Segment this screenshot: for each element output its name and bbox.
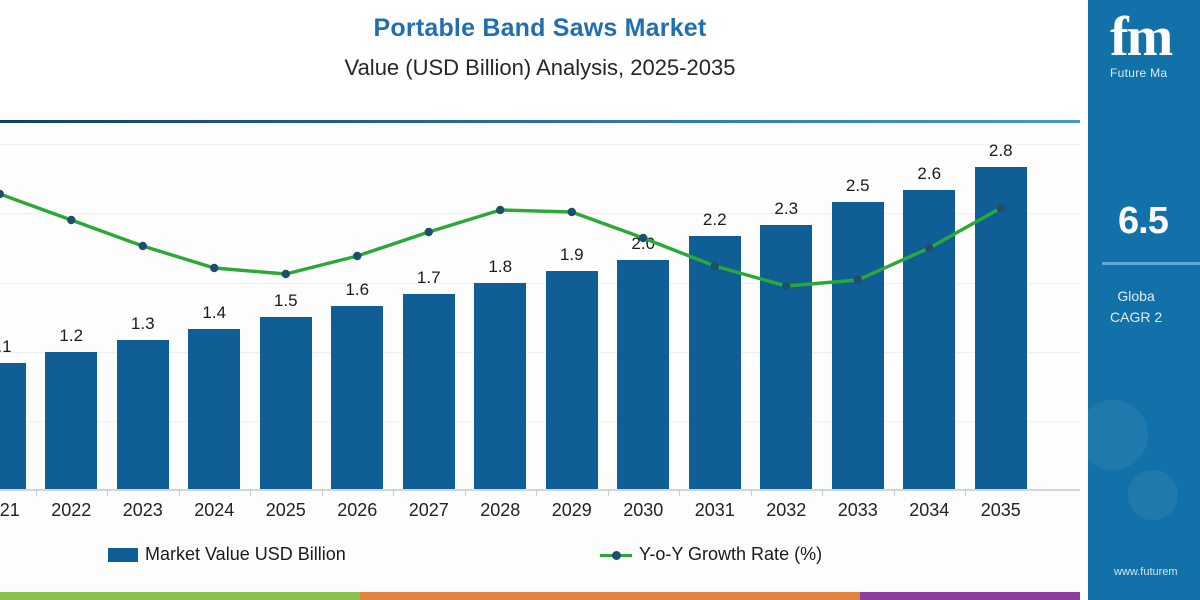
growth-marker-2032[interactable] [782, 282, 790, 290]
strip-segment [360, 592, 860, 600]
growth-marker-2031[interactable] [711, 262, 719, 270]
x-label-2025: 2025 [266, 500, 306, 521]
growth-marker-2023[interactable] [139, 242, 147, 250]
x-tick [107, 489, 108, 496]
bottom-color-strip [0, 592, 1080, 600]
x-tick [179, 489, 180, 496]
x-tick [679, 489, 680, 496]
panel-decoration [1088, 400, 1148, 470]
logo-wordmark: Future Ma [1110, 66, 1200, 80]
panel-separator [1080, 0, 1088, 600]
x-label-2031: 2031 [695, 500, 735, 521]
growth-marker-2030[interactable] [639, 234, 647, 242]
x-tick [465, 489, 466, 496]
chart-canvas: Portable Band Saws Market Value (USD Bil… [0, 0, 1200, 600]
x-tick [322, 489, 323, 496]
legend-line-swatch-icon [600, 548, 632, 562]
x-label-2022: 2022 [51, 500, 91, 521]
x-tick [393, 489, 394, 496]
growth-marker-2035[interactable] [997, 204, 1005, 212]
x-tick [36, 489, 37, 496]
growth-marker-2033[interactable] [854, 276, 862, 284]
brand-url: www.futurem [1114, 566, 1178, 578]
x-tick [894, 489, 895, 496]
x-label-2032: 2032 [766, 500, 806, 521]
panel-decoration [1128, 470, 1178, 520]
x-tick [608, 489, 609, 496]
x-label-2023: 2023 [123, 500, 163, 521]
growth-marker-2027[interactable] [425, 228, 433, 236]
plot-area: 1.11.21.31.41.51.61.71.81.92.02.22.32.52… [0, 128, 1080, 490]
x-label-2024: 2024 [194, 500, 234, 521]
x-label-2028: 2028 [480, 500, 520, 521]
logo-monogram-icon: fm [1110, 12, 1200, 64]
x-label-2035: 2035 [981, 500, 1021, 521]
growth-marker-2029[interactable] [568, 208, 576, 216]
x-label-2029: 2029 [552, 500, 592, 521]
x-label-2026: 2026 [337, 500, 377, 521]
cagr-caption-line1: Globa [1117, 288, 1154, 304]
brand-panel: fm Future Ma 6.5 Globa CAGR 2 www.future… [1088, 0, 1200, 600]
x-label-2021: 2021 [0, 500, 20, 521]
x-label-2033: 2033 [838, 500, 878, 521]
strip-segment [0, 592, 360, 600]
header-divider [0, 120, 1080, 123]
page-title: Portable Band Saws Market [374, 14, 707, 43]
growth-marker-2024[interactable] [210, 264, 218, 272]
cagr-caption: Globa CAGR 2 [1110, 286, 1162, 328]
x-label-2034: 2034 [909, 500, 949, 521]
strip-segment [860, 592, 1080, 600]
growth-line-series [0, 128, 1080, 490]
x-tick [965, 489, 966, 496]
growth-marker-2034[interactable] [925, 244, 933, 252]
legend-line-label: Y-o-Y Growth Rate (%) [639, 544, 822, 565]
legend-bar-swatch-icon [108, 548, 138, 562]
chart-legend: Market Value USD Billion Y-o-Y Growth Ra… [0, 540, 1080, 570]
chart-header: Portable Band Saws Market Value (USD Bil… [0, 0, 1080, 112]
growth-marker-2028[interactable] [496, 206, 504, 214]
cagr-divider [1102, 262, 1200, 265]
legend-item-growth-rate[interactable]: Y-o-Y Growth Rate (%) [600, 544, 822, 565]
growth-marker-2022[interactable] [67, 216, 75, 224]
x-tick [250, 489, 251, 496]
x-tick [751, 489, 752, 496]
page-subtitle: Value (USD Billion) Analysis, 2025-2035 [345, 55, 736, 81]
growth-marker-2025[interactable] [282, 270, 290, 278]
x-tick [536, 489, 537, 496]
x-axis [0, 489, 1080, 491]
cagr-caption-line2: CAGR 2 [1110, 309, 1162, 325]
legend-bar-label: Market Value USD Billion [145, 544, 346, 565]
legend-item-market-value[interactable]: Market Value USD Billion [108, 544, 346, 565]
cagr-value: 6.5 [1118, 200, 1168, 243]
growth-marker-2026[interactable] [353, 252, 361, 260]
x-label-2027: 2027 [409, 500, 449, 521]
x-label-2030: 2030 [623, 500, 663, 521]
brand-logo: fm Future Ma [1110, 12, 1200, 80]
x-tick [822, 489, 823, 496]
